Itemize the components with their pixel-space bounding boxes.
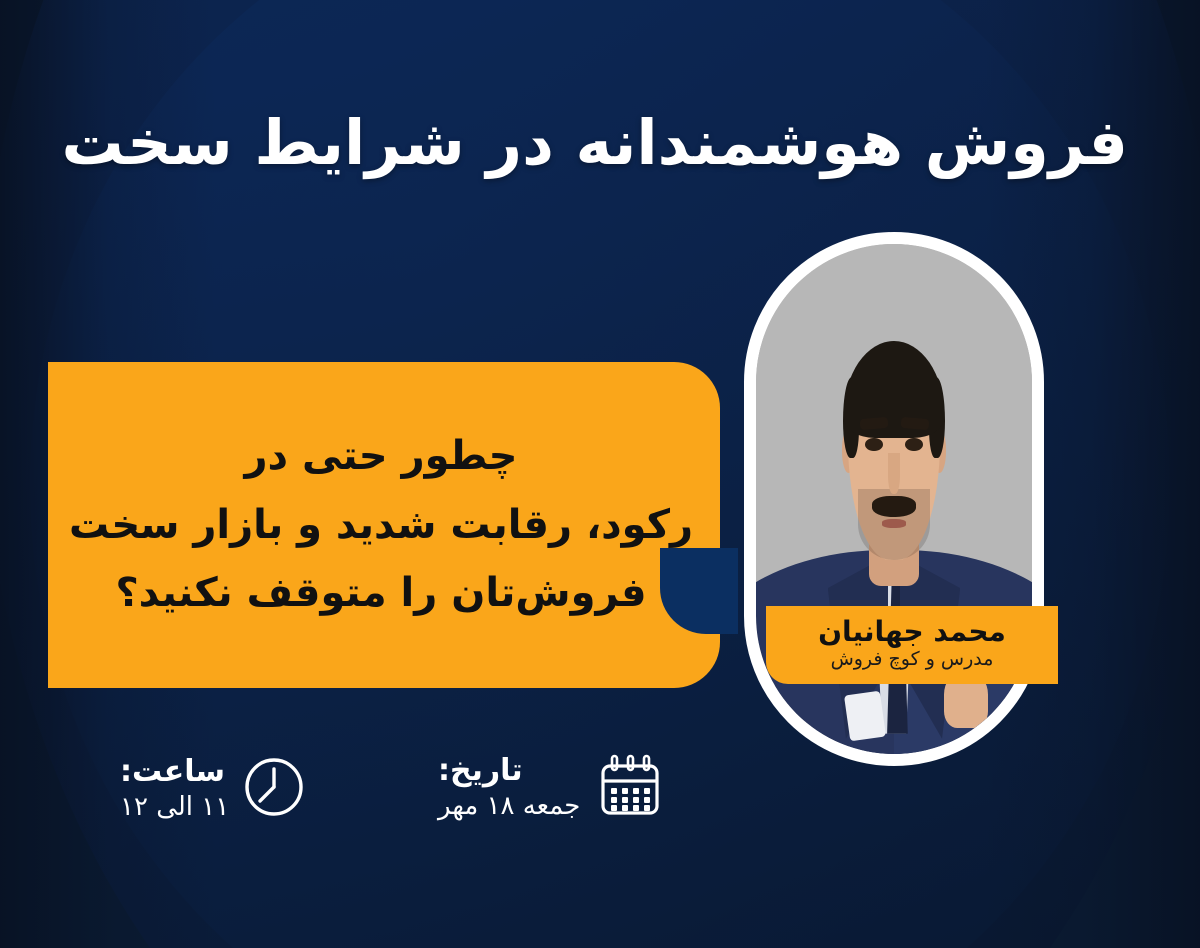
promo-callout-box: چطور حتی در رکود، رقابت شدید و بازار سخت… <box>48 362 720 688</box>
speaker-name: محمد جهانیان <box>818 617 1006 647</box>
speaker-role: مدرس و کوچ فروش <box>831 649 994 671</box>
promo-line-2: رکود، رقابت شدید و بازار سخت <box>69 491 693 560</box>
photo-eye-right <box>905 438 923 451</box>
event-date-text: تاریخ: جمعه ۱۸ مهر <box>438 753 580 822</box>
photo-shirt-cuff <box>844 691 886 741</box>
promo-callout-text: چطور حتی در رکود، رقابت شدید و بازار سخت… <box>49 422 719 628</box>
page-title: فروش هوشمندانه در شرایط سخت <box>72 106 1128 179</box>
time-value: ۱۱ الی ۱۲ <box>120 792 229 823</box>
time-label: ساعت: <box>120 754 225 790</box>
date-label: تاریخ: <box>438 753 523 789</box>
event-time-text: ساعت: ۱۱ الی ۱۲ <box>120 754 229 823</box>
photo-eye-left <box>865 438 883 451</box>
clock-icon <box>243 756 305 822</box>
promo-line-3: فروش‌تان را متوقف نکنید؟ <box>69 559 693 628</box>
photo-mouth <box>882 519 907 527</box>
photo-nose <box>888 453 899 494</box>
date-value: جمعه ۱۸ مهر <box>438 791 580 822</box>
webinar-poster: فروش هوشمندانه در شرایط سخت چطور حتی در … <box>0 0 1200 948</box>
photo-moustache <box>872 496 916 516</box>
event-meta-row: ساعت: ۱۱ الی ۱۲ <box>0 750 1200 860</box>
promo-line-1: چطور حتی در <box>69 422 693 491</box>
calendar-icon <box>594 750 666 826</box>
event-time-block: ساعت: ۱۱ الی ۱۲ <box>120 754 305 823</box>
event-date-block: تاریخ: جمعه ۱۸ مهر <box>438 750 666 826</box>
speaker-name-badge: محمد جهانیان مدرس و کوچ فروش <box>766 606 1058 684</box>
speaker-photo-frame <box>744 232 1044 766</box>
